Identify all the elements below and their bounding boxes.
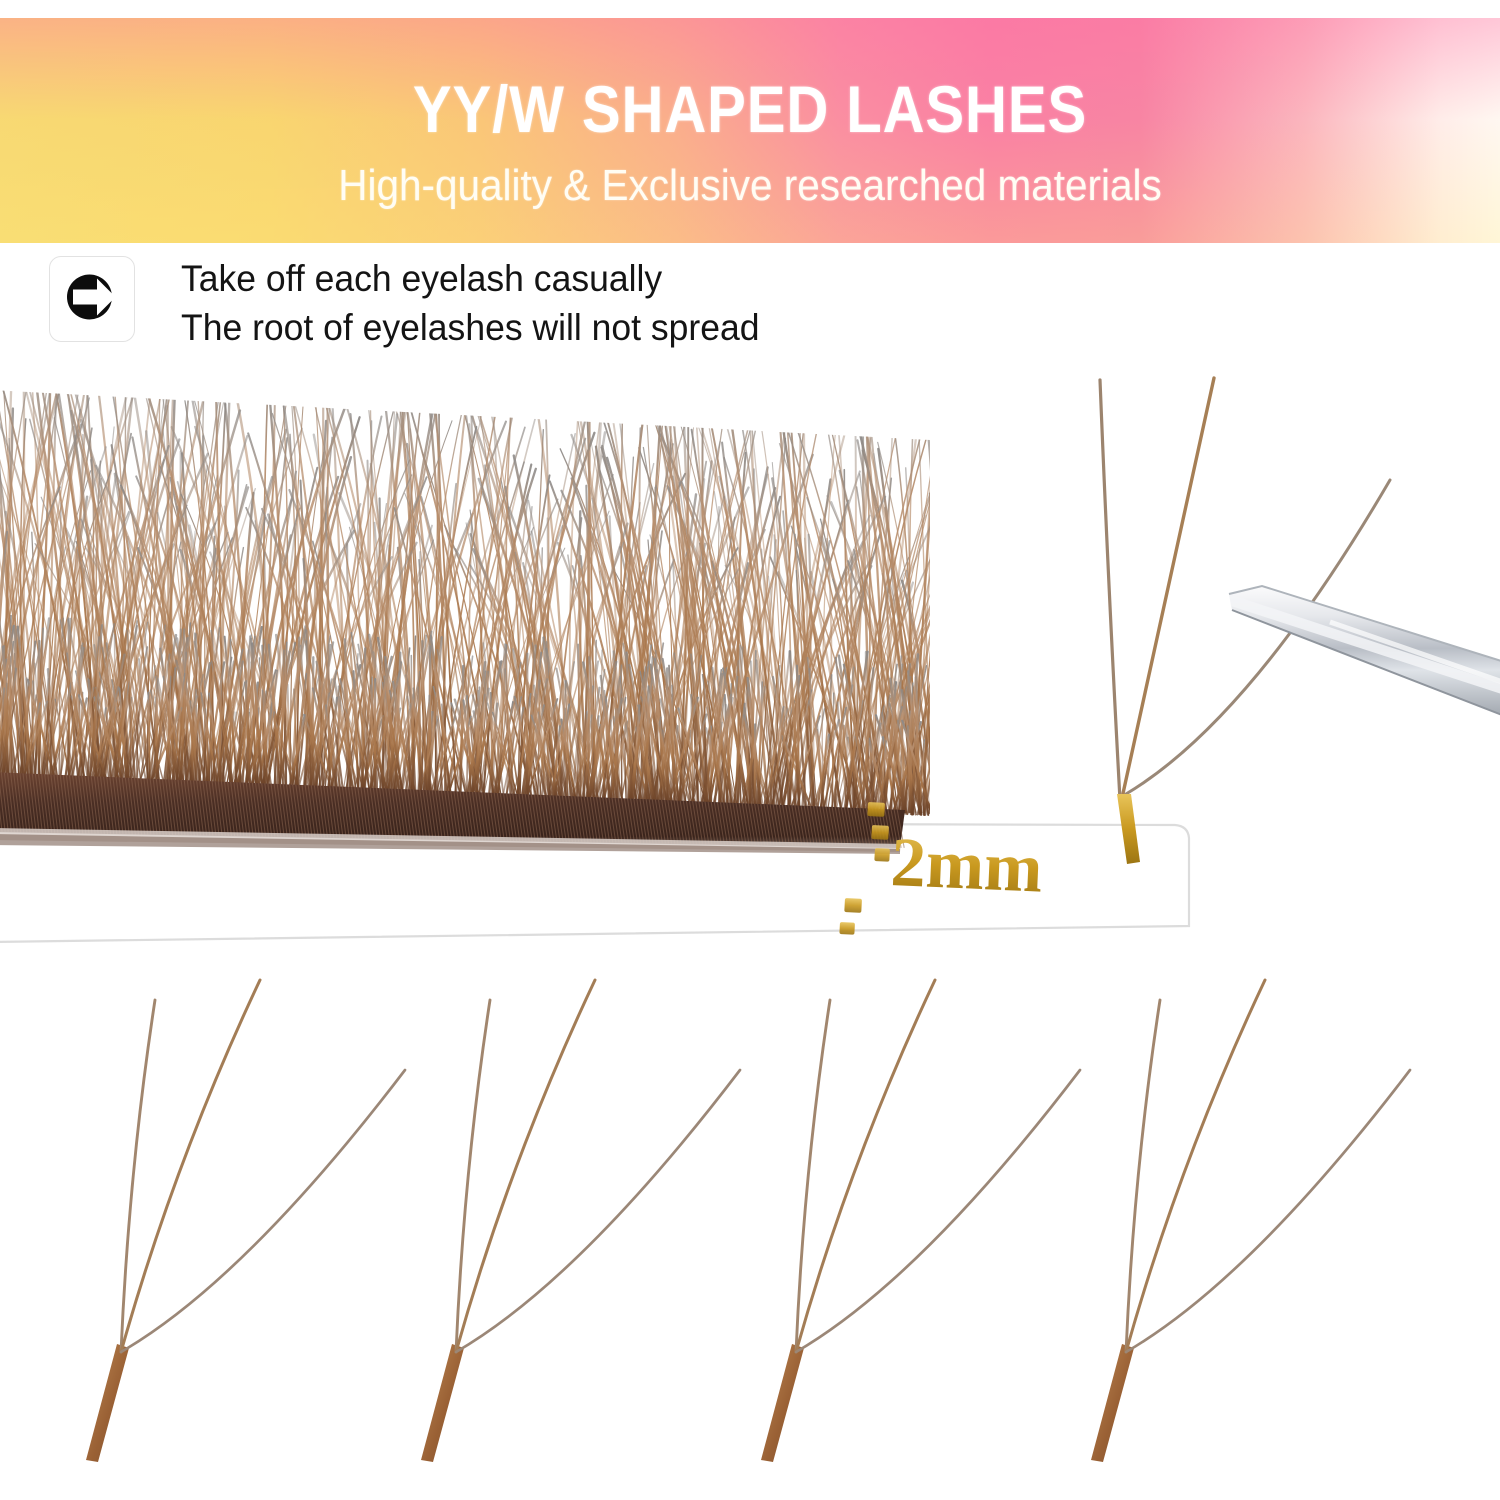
- arrow-right-circle-icon: [61, 266, 123, 333]
- header-banner: YY/W SHAPED LASHES High-quality & Exclus…: [0, 18, 1500, 243]
- instruction-text: Take off each eyelash casually The root …: [181, 254, 784, 352]
- instruction-block: Take off each eyelash casually The root …: [49, 256, 784, 352]
- instruction-line-2: The root of eyelashes will not spread: [181, 303, 760, 352]
- lash-tweezers: [1229, 586, 1500, 722]
- lash-fan: [421, 980, 740, 1462]
- product-photo: 2mm: [0, 370, 1500, 1500]
- lash-fan: [86, 980, 405, 1462]
- lash-fiber-field: [0, 370, 1012, 815]
- instruction-line-1: Take off each eyelash casually: [181, 254, 760, 303]
- page-subtitle: High-quality & Exclusive researched mate…: [60, 164, 1440, 208]
- lash-fan: [1091, 980, 1410, 1462]
- product-photo-svg: 2mm: [0, 370, 1500, 1500]
- tray-printed-label: 2mm: [889, 824, 1044, 908]
- page-title: YY/W SHAPED LASHES: [90, 76, 1410, 142]
- lash-fan: [761, 980, 1080, 1462]
- instruction-icon-box: [49, 256, 135, 342]
- bottom-fan-row: [86, 980, 1410, 1462]
- tray-label-text: 2mm: [889, 824, 1044, 908]
- product-marketing-image: YY/W SHAPED LASHES High-quality & Exclus…: [0, 0, 1500, 1500]
